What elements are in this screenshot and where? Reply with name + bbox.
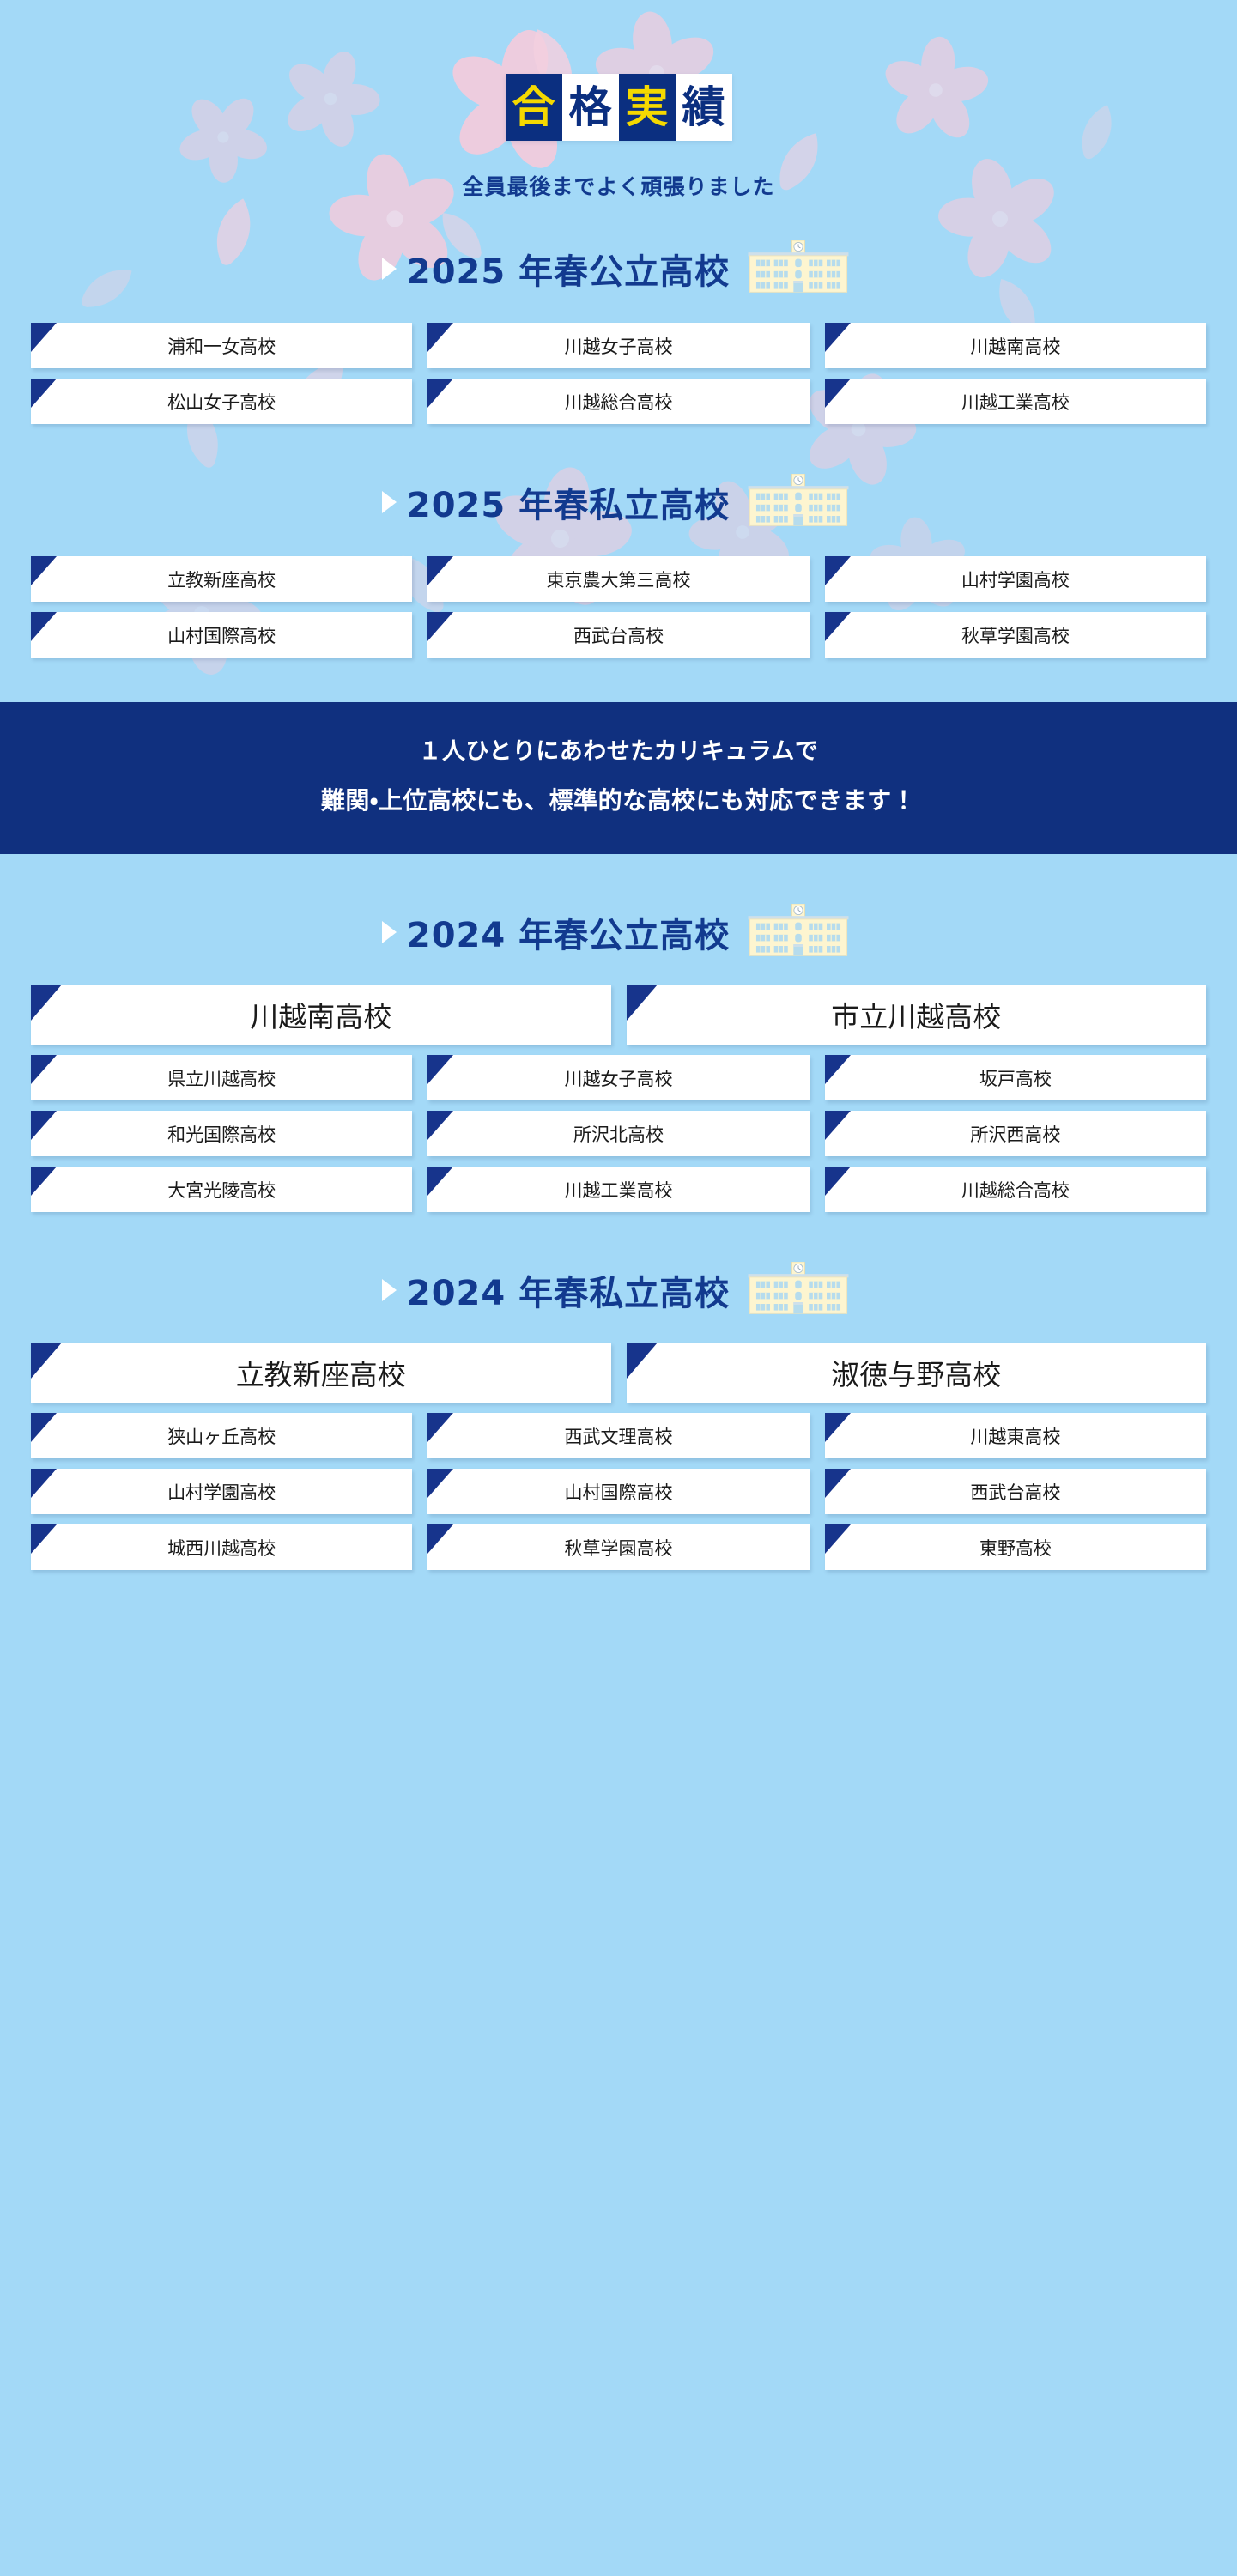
section-header-2025-private: 2025 年春私立高校 [0, 474, 1237, 530]
school-building-icon [742, 474, 855, 530]
school-card-featured[interactable]: 淑徳与野高校 [627, 1343, 1207, 1403]
school-card-featured[interactable]: 川越南高校 [31, 985, 611, 1045]
school-card[interactable]: 東野高校 [825, 1524, 1206, 1570]
school-card[interactable]: 山村国際高校 [427, 1469, 809, 1514]
school-card[interactable]: 川越総合高校 [825, 1167, 1206, 1212]
title-char-0: 合 [506, 74, 562, 141]
school-card[interactable]: 狭山ヶ丘高校 [31, 1413, 412, 1458]
school-name: 城西川越高校 [167, 1535, 276, 1561]
school-card-row: 狭山ヶ丘高校 西武文理高校 川越東高校 [0, 1413, 1237, 1458]
school-card[interactable]: 川越総合高校 [427, 379, 809, 424]
title-char-3: 績 [676, 74, 732, 141]
hero-header: 合格実績 全員最後までよく頑張りました [0, 0, 1237, 201]
banner-line-1: １人ひとりにあわせたカリキュラムで [17, 740, 1220, 763]
school-name: 川越工業高校 [564, 1177, 672, 1203]
school-name: 山村学園高校 [961, 567, 1070, 592]
school-name: 市立川越高校 [831, 994, 1001, 1035]
school-name: 立教新座高校 [167, 567, 276, 592]
school-name: 所沢西高校 [970, 1121, 1060, 1147]
school-card[interactable]: 山村学園高校 [31, 1469, 412, 1514]
school-card[interactable]: 県立川越高校 [31, 1055, 412, 1100]
school-name: 川越南高校 [970, 333, 1060, 359]
school-name: 浦和一女高校 [167, 333, 276, 359]
school-card[interactable]: 川越女子高校 [427, 1055, 809, 1100]
section-header-2024-public: 2024 年春公立高校 [0, 904, 1237, 961]
school-card[interactable]: 秋草学園高校 [825, 612, 1206, 658]
school-name: 東京農大第三高校 [546, 567, 690, 592]
triangle-right-icon [382, 258, 397, 280]
school-name: 川越総合高校 [961, 1177, 1070, 1203]
school-name: 秋草学園高校 [564, 1535, 672, 1561]
school-card-featured[interactable]: 市立川越高校 [627, 985, 1207, 1045]
school-card[interactable]: 西武台高校 [825, 1469, 1206, 1514]
triangle-right-icon [382, 1279, 397, 1301]
triangle-right-icon [382, 921, 397, 943]
section-title: 2025 年春私立高校 [407, 477, 730, 527]
section-2024-public: 2024 年春公立高校 [0, 854, 1237, 1212]
school-name: 川越総合高校 [564, 389, 672, 415]
school-card[interactable]: 秋草学園高校 [427, 1524, 809, 1570]
school-name: 淑徳与野高校 [831, 1352, 1001, 1393]
school-name: 川越東高校 [970, 1423, 1060, 1449]
page-root: 合格実績 全員最後までよく頑張りました 2025 年春公立高校 [0, 0, 1237, 2576]
school-name: 大宮光陵高校 [167, 1177, 276, 1203]
school-building-icon [742, 904, 855, 961]
school-card[interactable]: 山村学園高校 [825, 556, 1206, 602]
school-name: 川越女子高校 [564, 333, 672, 359]
school-card[interactable]: 東京農大第三高校 [427, 556, 809, 602]
school-card[interactable]: 立教新座高校 [31, 556, 412, 602]
school-card-row: 松山女子高校 川越総合高校 川越工業高校 [0, 379, 1237, 424]
section-title: 2025 年春公立高校 [407, 244, 730, 294]
school-card[interactable]: 川越工業高校 [427, 1167, 809, 1212]
school-card-row: 県立川越高校 川越女子高校 坂戸高校 [0, 1055, 1237, 1100]
school-card[interactable]: 大宮光陵高校 [31, 1167, 412, 1212]
school-name: 県立川越高校 [167, 1065, 276, 1091]
school-building-icon [742, 240, 855, 297]
school-card[interactable]: 西武台高校 [427, 612, 809, 658]
school-name: 山村国際高校 [564, 1479, 672, 1505]
triangle-right-icon [382, 491, 397, 513]
school-card-featured[interactable]: 立教新座高校 [31, 1343, 611, 1403]
school-card[interactable]: 和光国際高校 [31, 1111, 412, 1156]
school-card-row: 山村国際高校 西武台高校 秋草学園高校 [0, 612, 1237, 658]
school-card[interactable]: 松山女子高校 [31, 379, 412, 424]
school-card-row: 山村学園高校 山村国際高校 西武台高校 [0, 1469, 1237, 1514]
title-char-2: 実 [619, 74, 676, 141]
title-char-1: 格 [562, 74, 619, 141]
section-2025-private: 2025 年春私立高校 [0, 424, 1237, 658]
school-card-row: 浦和一女高校 川越女子高校 川越南高校 [0, 323, 1237, 368]
section-title: 2024 年春公立高校 [407, 907, 730, 957]
page-title: 合格実績 [506, 74, 732, 141]
school-card[interactable]: 城西川越高校 [31, 1524, 412, 1570]
school-name: 山村学園高校 [167, 1479, 276, 1505]
section-2025-public: 2025 年春公立高校 [0, 201, 1237, 424]
school-card[interactable]: 所沢北高校 [427, 1111, 809, 1156]
school-name: 東野高校 [979, 1535, 1052, 1561]
section-2024-private: 2024 年春私立高校 [0, 1212, 1237, 1570]
school-name: 西武台高校 [970, 1479, 1060, 1505]
school-name: 所沢北高校 [573, 1121, 664, 1147]
school-name: 西武文理高校 [564, 1423, 672, 1449]
school-card[interactable]: 所沢西高校 [825, 1111, 1206, 1156]
featured-card-grid-2024-public: 川越南高校 市立川越高校 [0, 985, 1237, 1045]
school-name: 松山女子高校 [167, 389, 276, 415]
banner-line-2: 難関・上位高校にも、標準的な高校にも対応できます！ [17, 789, 1220, 813]
school-card-row: 城西川越高校 秋草学園高校 東野高校 [0, 1524, 1237, 1570]
school-card[interactable]: 川越工業高校 [825, 379, 1206, 424]
school-card[interactable]: 浦和一女高校 [31, 323, 412, 368]
content-root: 2025 年春公立高校 [0, 201, 1237, 1618]
hero-subtitle: 全員最後までよく頑張りました [0, 170, 1237, 201]
school-name: 川越南高校 [250, 994, 391, 1035]
school-name: 川越工業高校 [961, 389, 1070, 415]
school-card[interactable]: 川越南高校 [825, 323, 1206, 368]
school-card[interactable]: 山村国際高校 [31, 612, 412, 658]
school-name: 和光国際高校 [167, 1121, 276, 1147]
school-name: 川越女子高校 [564, 1065, 672, 1091]
school-name: 立教新座高校 [236, 1352, 406, 1393]
school-card-row: 立教新座高校 東京農大第三高校 山村学園高校 [0, 556, 1237, 602]
featured-card-grid-2024-private: 立教新座高校 淑徳与野高校 [0, 1343, 1237, 1403]
school-card-row: 和光国際高校 所沢北高校 所沢西高校 [0, 1111, 1237, 1156]
school-name: 坂戸高校 [979, 1065, 1052, 1091]
section-header-2024-private: 2024 年春私立高校 [0, 1262, 1237, 1318]
school-name: 秋草学園高校 [961, 622, 1070, 648]
school-name: 山村国際高校 [167, 622, 276, 648]
school-card-row: 大宮光陵高校 川越工業高校 川越総合高校 [0, 1167, 1237, 1212]
school-name: 西武台高校 [573, 622, 664, 648]
school-card[interactable]: 坂戸高校 [825, 1055, 1206, 1100]
section-header-2025-public: 2025 年春公立高校 [0, 240, 1237, 297]
school-card[interactable]: 川越東高校 [825, 1413, 1206, 1458]
school-name: 狭山ヶ丘高校 [167, 1423, 276, 1449]
section-title: 2024 年春私立高校 [407, 1265, 730, 1315]
curriculum-banner: １人ひとりにあわせたカリキュラムで 難関・上位高校にも、標準的な高校にも対応でき… [0, 702, 1237, 854]
school-card[interactable]: 西武文理高校 [427, 1413, 809, 1458]
school-card[interactable]: 川越女子高校 [427, 323, 809, 368]
school-building-icon [742, 1262, 855, 1318]
